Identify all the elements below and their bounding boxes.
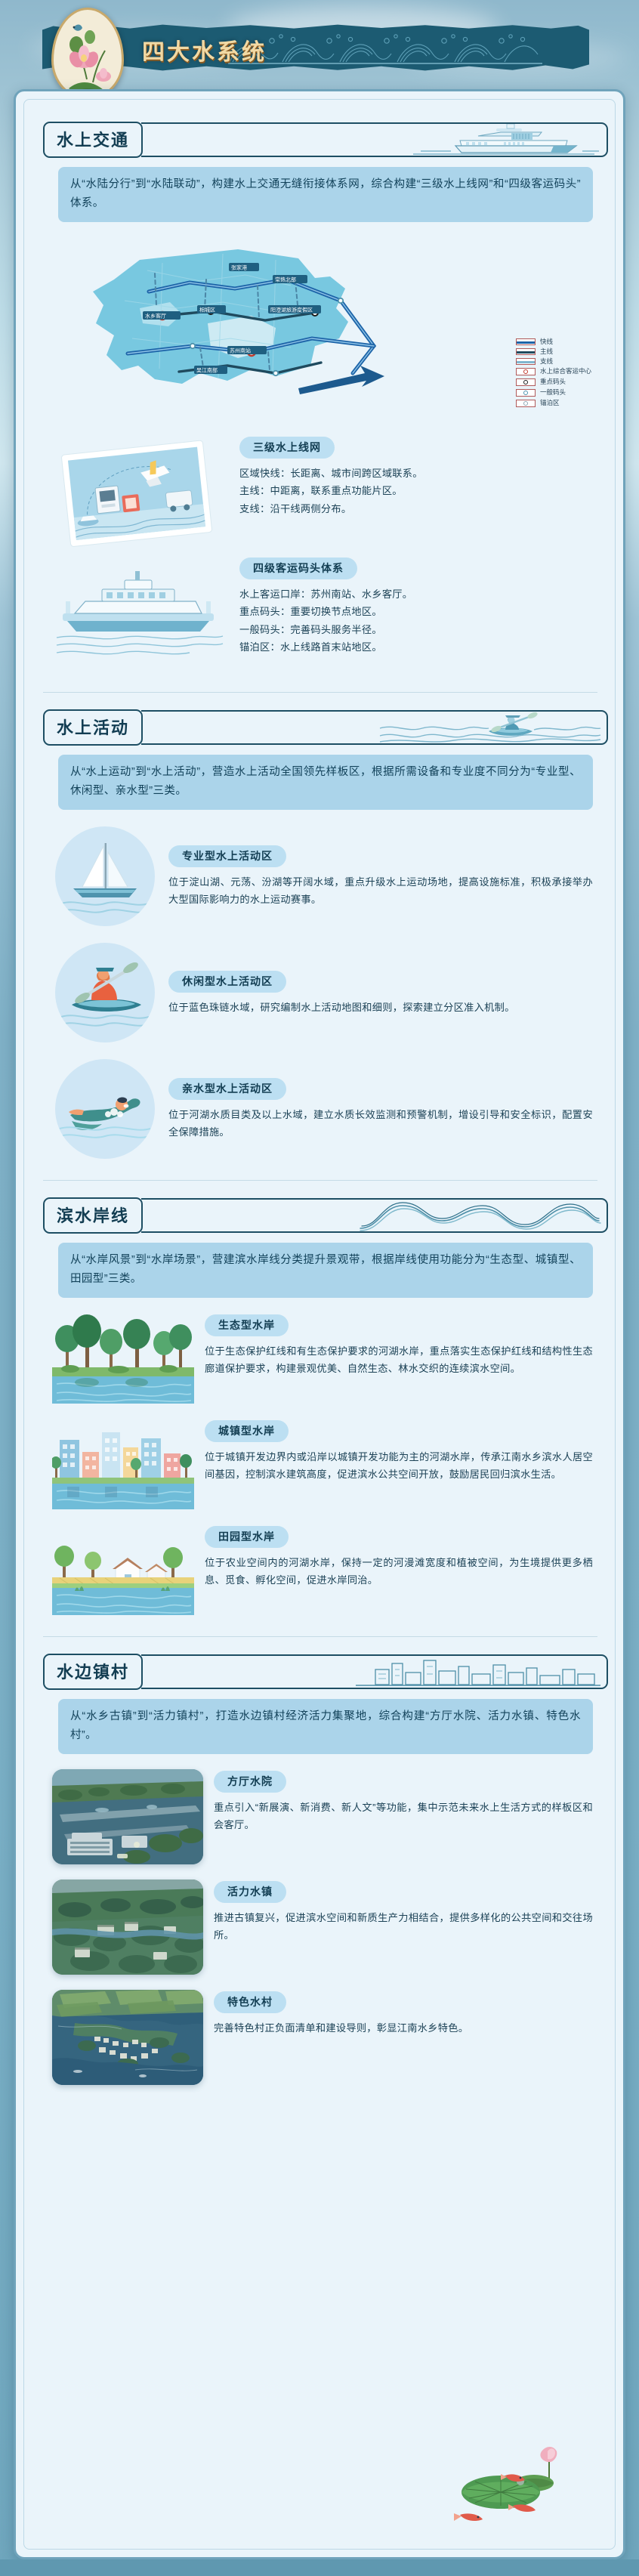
photo-card <box>52 1990 203 2085</box>
subsection-text: 水上客运口岸：苏州南站、水乡客厅。 重点码头：重要切换节点地区。 一般码头：完善… <box>239 585 593 656</box>
legend-label: 一般码头 <box>540 389 566 396</box>
svg-text:相城区: 相城区 <box>199 306 215 313</box>
section-title-box: 水上交通 <box>43 122 143 158</box>
section-intro: 从“水乡古镇”到“活力镇村”，打造水边镇村经济活力集聚地，综合构建“方厅水院、活… <box>58 1699 593 1754</box>
kayaker-icon <box>55 943 155 1042</box>
lotus-koi-illustration <box>428 2436 610 2550</box>
subsection-body: 四级客运码头体系 水上客运口岸：苏州南站、水乡客厅。 重点码头：重要切换节点地区… <box>239 558 593 656</box>
passenger-terminal-icon <box>52 558 226 663</box>
legend-item: 锚泊区 <box>516 400 591 407</box>
subsection-body: 城镇型水岸 位于城镇开发边界内或沿岸以城镇开发功能为主的河湖水岸，传承江南水乡滨… <box>205 1419 593 1484</box>
section-waterfront-shoreline: 滨水岸线 从“水岸风景”到“水岸场景”，营建滨水岸线分类提升景观带，根据岸线使用… <box>32 1197 608 1620</box>
section-title-box: 滨水岸线 <box>43 1197 143 1234</box>
section-header: 水上交通 <box>43 122 608 158</box>
network-poster-icon <box>52 437 226 550</box>
bottom-bar <box>0 2559 639 2576</box>
subsection-text: 位于农业空间内的河湖水岸，保持一定的河漫滩宽度和植被空间，为生境提供更多栖息、觅… <box>205 1554 593 1589</box>
legend-label: 主线 <box>540 348 553 355</box>
page-title: 四大水系统 <box>142 33 267 66</box>
wave-line-icon <box>353 1198 602 1231</box>
sailboat-illustration <box>55 826 155 926</box>
svg-text:常熟北部: 常熟北部 <box>275 276 296 283</box>
swimmer-icon <box>55 1059 155 1159</box>
subsection-body: 生态型水岸 位于生态保护红线和有生态保护要求的河湖水岸，重点落实生态保护红线和结… <box>205 1313 593 1378</box>
section-divider <box>43 692 597 693</box>
section-art <box>141 1198 608 1233</box>
swimmer-illustration <box>55 1059 155 1159</box>
network-poster-illustration <box>52 437 226 550</box>
subsection-pill: 休闲型水上活动区 <box>168 971 286 993</box>
legend-item: 水上综合客运中心 <box>516 368 591 375</box>
text-line: 主线：中距离，联系重点功能片区。 <box>239 482 593 500</box>
town-skyline-icon <box>353 1654 602 1688</box>
subsection-text: 位于河湖水质目类及以上水域，建立水质长效监测和预警机制，增设引导和安全标识，配置… <box>168 1106 593 1141</box>
subsection-text: 推进古镇复兴，促进滨水空间和新质生产力相结合，提供多样化的公共空间和交往场所。 <box>214 1909 593 1944</box>
legend-general-dock-marker-icon <box>516 389 536 397</box>
map-legend: 快线 主线 支线 水上综合客运中心 重点码头 <box>516 338 591 410</box>
subsection-pill: 专业型水上活动区 <box>168 845 286 867</box>
section-art <box>141 710 608 745</box>
legend-item: 快线 <box>516 338 591 345</box>
aerial-photo-fangting-icon <box>52 1769 203 1864</box>
section-intro: 从“水上运动”到“水上活动”，营造水上活动全国领先样板区，根据所需设备和专业度不… <box>58 755 593 810</box>
subsection-body: 亲水型水上活动区 位于河湖水质目类及以上水域，建立水质长效监测和预警机制，增设引… <box>168 1076 593 1141</box>
subsection-text: 位于城镇开发边界内或沿岸以城镇开发功能为主的河湖水岸，传承江南水乡滨水人居空间基… <box>205 1448 593 1484</box>
subsection-rural-shore: 田园型水岸 位于农业空间内的河湖水岸，保持一定的河漫滩宽度和植被空间，为生境提供… <box>52 1524 593 1615</box>
subsection-hydrophilic-zone: 亲水型水上活动区 位于河湖水质目类及以上水域，建立水质长效监测和预警机制，增设引… <box>55 1059 593 1159</box>
subsection-body: 休闲型水上活动区 位于蓝色珠链水域，研究编制水上活动地图和细则，探索建立分区准入… <box>168 969 593 1017</box>
subsection-pill: 方厅水院 <box>214 1771 286 1793</box>
subsection-text: 区域快线：长距离、城市间跨区域联系。 主线：中距离，联系重点功能片区。 支线：沿… <box>239 465 593 518</box>
forest-waterfront-icon <box>52 1313 194 1404</box>
legend-label: 重点码头 <box>540 378 566 385</box>
section-title: 水上交通 <box>57 131 129 150</box>
section-title-box: 水上活动 <box>43 709 143 746</box>
section-water-activity: 水上活动 <box>32 709 608 1163</box>
section-intro: 从“水岸风景”到“水岸场景”，营建滨水岸线分类提升景观带，根据岸线使用功能分为“… <box>58 1243 593 1298</box>
subsection-ecological-shore: 生态型水岸 位于生态保护红线和有生态保护要求的河湖水岸，重点落实生态保护红线和结… <box>52 1313 593 1404</box>
svg-text:阳澄湖旅游度假区: 阳澄湖旅游度假区 <box>270 306 313 313</box>
legend-key-dock-marker-icon <box>516 378 536 386</box>
page-header: 四大水系统 <box>0 20 639 77</box>
section-title-box: 水边镇村 <box>43 1654 143 1690</box>
subsection-pill: 城镇型水岸 <box>205 1420 289 1442</box>
subsection-text: 位于淀山湖、元荡、汾湖等开阔水域，重点升级水上运动场地，提高设施标准，积极承接举… <box>168 873 593 909</box>
text-line: 锚泊区：水上线路首末站地区。 <box>239 638 593 656</box>
subsection-body: 活力水镇 推进古镇复兴，促进滨水空间和新质生产力相结合，提供多样化的公共空间和交… <box>214 1879 593 1944</box>
subsection-body: 特色水村 完善特色村正负面清单和建设导则，彰显江南水乡特色。 <box>214 1990 593 2037</box>
map-illustration: 张家港 常熟北部 阳澄湖旅游度假区 相城区 水乡客厅 苏州南站 吴江南部 <box>49 233 502 429</box>
legend-line-main-icon <box>516 348 536 355</box>
subsection-text: 位于生态保护红线和有生态保护要求的河湖水岸，重点落实生态保护红线和结构性生态廊道… <box>205 1342 593 1378</box>
legend-line-branch-icon <box>516 358 536 365</box>
section-title: 滨水岸线 <box>57 1207 129 1226</box>
region-water-network-map: 张家港 常熟北部 阳澄湖旅游度假区 相城区 水乡客厅 苏州南站 吴江南部 <box>49 233 594 429</box>
content-frame: 水上交通 <box>14 89 625 2559</box>
subsection-pill: 四级客运码头体系 <box>239 558 357 579</box>
aerial-photo-fangting <box>52 1769 203 1864</box>
subsection-pill: 活力水镇 <box>214 1881 286 1903</box>
rural-waterfront-illustration <box>52 1524 194 1615</box>
subsection-vital-water-town: 活力水镇 推进古镇复兴，促进滨水空间和新质生产力相结合，提供多样化的公共空间和交… <box>52 1879 593 1975</box>
ferry-boat-icon <box>406 122 602 156</box>
subsection-body: 三级水上线网 区域快线：长距离、城市间跨区域联系。 主线：中距离，联系重点功能片… <box>239 437 593 518</box>
text-line: 支线：沿干线两侧分布。 <box>239 500 593 518</box>
subsection-feature-water-village: 特色水村 完善特色村正负面清单和建设导则，彰显江南水乡特色。 <box>52 1990 593 2085</box>
section-art <box>141 1654 608 1689</box>
subsection-pill: 田园型水岸 <box>205 1526 289 1548</box>
legend-hub-marker-icon <box>516 368 536 375</box>
lotus-emblem <box>51 8 124 100</box>
legend-label: 水上综合客运中心 <box>540 368 591 375</box>
subsection-pill: 亲水型水上活动区 <box>168 1078 286 1100</box>
section-header: 滨水岸线 <box>43 1197 608 1234</box>
subsection-pill: 生态型水岸 <box>205 1314 289 1336</box>
subsection-leisure-zone: 休闲型水上活动区 位于蓝色珠链水域，研究编制水上活动地图和细则，探索建立分区准入… <box>55 943 593 1042</box>
legend-label: 支线 <box>540 358 553 365</box>
subsection-body: 专业型水上活动区 位于淀山湖、元荡、汾湖等开阔水域，重点升级水上运动场地，提高设… <box>168 844 593 909</box>
city-waterfront-illustration <box>52 1419 194 1509</box>
sailboat-icon <box>55 826 155 926</box>
text-line: 重点码头：重要切换节点地区。 <box>239 603 593 621</box>
text-line: 一般码头：完善码头服务半径。 <box>239 621 593 639</box>
svg-text:张家港: 张家港 <box>231 264 247 270</box>
aerial-photo-feature-village-icon <box>52 1990 203 2085</box>
section-intro: 从“水陆分行”到“水陆联动”，构建水上交通无缝衔接体系网，综合构建“三级水上线网… <box>58 167 593 222</box>
aerial-photo-vital-town-icon <box>52 1879 203 1975</box>
kayak-illustration <box>55 943 155 1042</box>
legend-item: 重点码头 <box>516 378 591 386</box>
passenger-terminal-illustration <box>52 558 226 671</box>
text-line: 水上客运口岸：苏州南站、水乡客厅。 <box>239 585 593 604</box>
legend-item: 一般码头 <box>516 389 591 397</box>
svg-text:吴江南部: 吴江南部 <box>196 366 218 373</box>
legend-label: 快线 <box>540 338 553 345</box>
svg-text:水乡客厅: 水乡客厅 <box>145 312 166 319</box>
subsection-professional-zone: 专业型水上活动区 位于淀山湖、元荡、汾湖等开阔水域，重点升级水上运动场地，提高设… <box>55 826 593 926</box>
photo-card <box>52 1879 203 1975</box>
subsection-text: 完善特色村正负面清单和建设导则，彰显江南水乡特色。 <box>214 2019 593 2037</box>
subsection-text: 位于蓝色珠链水域，研究编制水上活动地图和细则，探索建立分区准入机制。 <box>168 999 593 1017</box>
subsection-text: 重点引入“新展演、新消费、新人文”等功能，集中示范未来水上生活方式的样板区和会客… <box>214 1799 593 1834</box>
subsection-body: 方厅水院 重点引入“新展演、新消费、新人文”等功能，集中示范未来水上生活方式的样… <box>214 1769 593 1834</box>
section-art <box>141 122 608 157</box>
svg-text:苏州南站: 苏州南站 <box>230 347 251 354</box>
subsection-fangting-water-court: 方厅水院 重点引入“新展演、新消费、新人文”等功能，集中示范未来水上生活方式的样… <box>52 1769 593 1864</box>
aerial-photo-vital-town <box>52 1879 203 1975</box>
wave-pattern-icon <box>227 30 544 65</box>
subsection-pill: 三级水上线网 <box>239 437 335 459</box>
kayak-icon <box>375 710 602 743</box>
city-waterfront-icon <box>52 1419 194 1509</box>
section-title: 水上活动 <box>57 719 129 738</box>
subsection-urban-shore: 城镇型水岸 位于城镇开发边界内或沿岸以城镇开发功能为主的河湖水岸，传承江南水乡滨… <box>52 1419 593 1509</box>
photo-card <box>52 1769 203 1864</box>
legend-line-express-icon <box>516 338 536 345</box>
aerial-photo-feature-village <box>52 1990 203 2085</box>
forest-waterfront-illustration <box>52 1313 194 1404</box>
legend-item: 支线 <box>516 358 591 365</box>
subsection-pill: 特色水村 <box>214 1991 286 2013</box>
section-waterside-town: 水边镇村 <box>32 1654 608 2090</box>
subsection-three-level-network: 三级水上线网 区域快线：长距离、城市间跨区域联系。 主线：中距离，联系重点功能片… <box>52 437 593 550</box>
text-line: 区域快线：长距离、城市间跨区域联系。 <box>239 465 593 483</box>
lotus-emblem-icon <box>54 10 124 100</box>
legend-item: 主线 <box>516 348 591 355</box>
section-header: 水上活动 <box>43 709 608 746</box>
legend-anchorage-marker-icon <box>516 400 536 407</box>
subsection-body: 田园型水岸 位于农业空间内的河湖水岸，保持一定的河漫滩宽度和植被空间，为生境提供… <box>205 1524 593 1589</box>
subsection-four-level-terminals: 四级客运码头体系 水上客运口岸：苏州南站、水乡客厅。 重点码头：重要切换节点地区… <box>52 558 593 671</box>
rural-waterfront-icon <box>52 1524 194 1615</box>
section-header: 水边镇村 <box>43 1654 608 1690</box>
section-water-transport: 水上交通 <box>32 122 608 675</box>
section-divider <box>43 1180 597 1181</box>
section-divider <box>43 1636 597 1637</box>
legend-label: 锚泊区 <box>540 400 560 406</box>
section-title: 水边镇村 <box>57 1663 129 1682</box>
